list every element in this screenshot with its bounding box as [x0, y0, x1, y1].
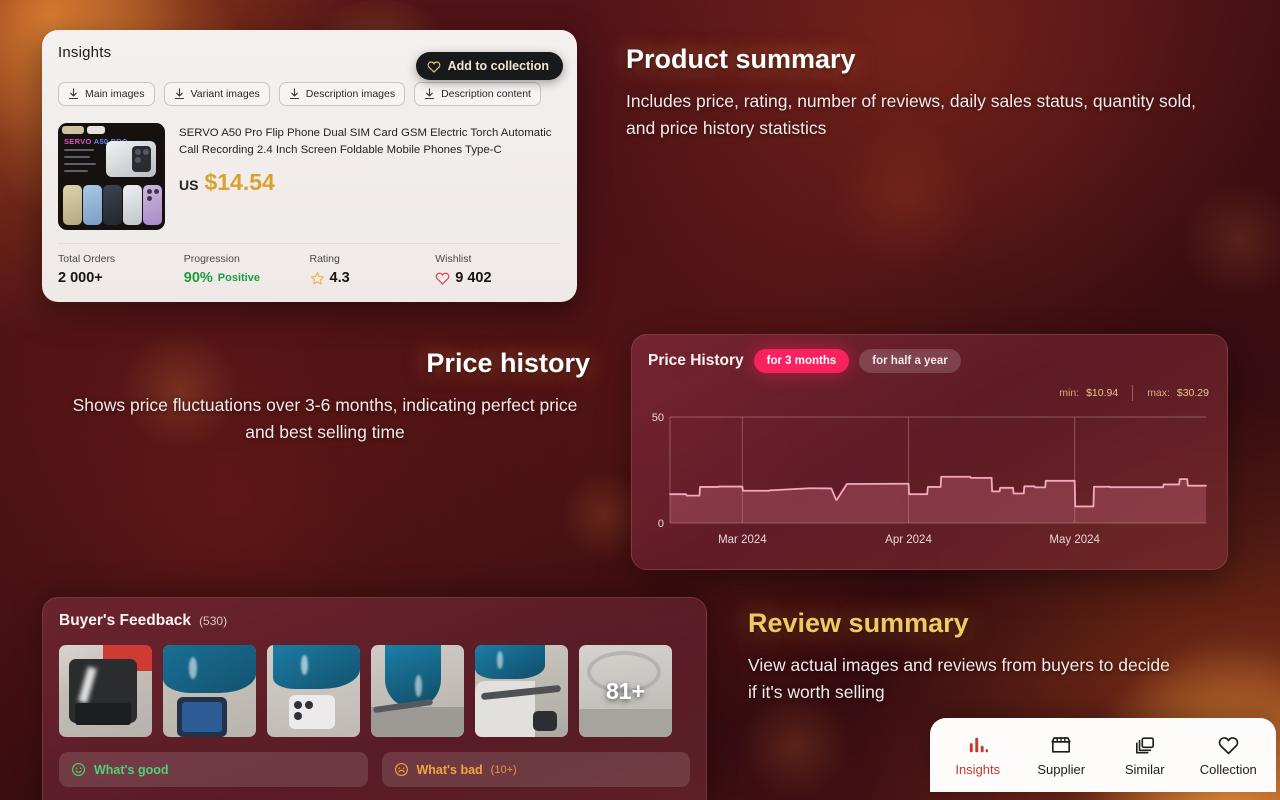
stat-total-orders-value: 2 000+ [58, 270, 103, 286]
smiley-sad-icon [394, 762, 409, 777]
stat-rating-label: Rating [310, 253, 436, 265]
review-summary-heading: Review summary [748, 608, 1178, 639]
download-icon [424, 88, 435, 100]
download-variant-images-label: Variant images [191, 88, 260, 100]
nav-item-similar-label: Similar [1125, 762, 1165, 777]
feedback-photo-3[interactable] [267, 645, 360, 737]
nav-item-similar[interactable]: Similar [1103, 735, 1187, 777]
heart-icon [427, 60, 441, 73]
price-min-value: $10.94 [1086, 387, 1118, 399]
tag-whats-bad-label: What's bad [417, 763, 483, 777]
nav-item-insights[interactable]: Insights [936, 735, 1020, 777]
svg-text:Apr 2024: Apr 2024 [885, 534, 932, 546]
download-icon [289, 88, 300, 100]
price-history-card: Price History for 3 months for half a ye… [631, 334, 1228, 570]
minmax-divider [1132, 385, 1133, 401]
stat-progression-label: Progression [184, 253, 310, 265]
download-description-images-label: Description images [306, 88, 395, 100]
product-currency: US [179, 177, 198, 193]
smiley-happy-icon [71, 762, 86, 777]
product-summary-heading: Product summary [626, 44, 1226, 75]
tag-whats-good[interactable]: What's good [59, 752, 368, 787]
feedback-photo-2[interactable] [163, 645, 256, 737]
review-summary-block: Review summary View actual images and re… [748, 608, 1178, 706]
svg-text:Mar 2024: Mar 2024 [718, 534, 767, 546]
tag-whats-bad[interactable]: What's bad (10+) [382, 752, 691, 787]
download-variant-images-button[interactable]: Variant images [164, 82, 270, 106]
stat-rating: Rating 4.3 [310, 244, 436, 286]
tab-for-half-a-year[interactable]: for half a year [859, 349, 960, 373]
store-icon [1050, 735, 1072, 755]
price-history-header: Price History for 3 months for half a ye… [648, 349, 1211, 373]
product-summary-body: Includes price, rating, number of review… [626, 88, 1226, 142]
download-icon [68, 88, 79, 100]
stat-rating-value: 4.3 [330, 270, 350, 286]
feedback-more-overlay: 81+ [579, 645, 672, 737]
product-price-value: $14.54 [204, 169, 274, 196]
add-to-collection-label: Add to collection [448, 59, 549, 73]
product-title: SERVO A50 Pro Flip Phone Dual SIM Card G… [179, 125, 561, 159]
price-min-label: min: [1059, 387, 1079, 399]
product-stats-row: Total Orders 2 000+ Progression 90% Posi… [58, 243, 561, 286]
nav-item-collection-label: Collection [1200, 762, 1257, 777]
heart-icon [435, 271, 450, 285]
nav-item-supplier-label: Supplier [1037, 762, 1085, 777]
feedback-photo-4[interactable] [371, 645, 464, 737]
bokeh-orb [1180, 180, 1280, 300]
stat-progression-value: 90% [184, 270, 213, 286]
bar-chart-icon [967, 735, 989, 755]
product-price: US $14.54 [179, 169, 561, 196]
product-row: SERVO A50 PRO SERVO A50 Pro Flip Phone D… [58, 123, 561, 230]
insights-card: Insights Add to collection Main images V… [42, 30, 577, 302]
price-max: max: $30.29 [1147, 387, 1209, 399]
stat-progression: Progression 90% Positive [184, 244, 310, 286]
buyers-feedback-count: (530) [199, 614, 227, 628]
tab-for-3-months[interactable]: for 3 months [754, 349, 850, 373]
star-icon [310, 271, 325, 286]
stat-wishlist-label: Wishlist [435, 253, 561, 265]
download-description-images-button[interactable]: Description images [279, 82, 405, 106]
feedback-photo-5[interactable] [475, 645, 568, 737]
price-max-value: $30.29 [1177, 387, 1209, 399]
price-history-card-title: Price History [648, 352, 744, 370]
price-max-label: max: [1147, 387, 1170, 399]
price-min: min: $10.94 [1059, 387, 1118, 399]
stat-total-orders-label: Total Orders [58, 253, 184, 265]
svg-text:May 2024: May 2024 [1049, 534, 1100, 546]
download-description-content-button[interactable]: Description content [414, 82, 541, 106]
svg-text:50: 50 [652, 412, 664, 424]
buyers-feedback-title: Buyer's Feedback [59, 612, 191, 630]
bottom-navigation-bar: Insights Supplier Similar Collection [930, 718, 1276, 792]
product-thumbnail[interactable]: SERVO A50 PRO [58, 123, 165, 230]
stat-wishlist-value: 9 402 [455, 270, 491, 286]
tag-whats-bad-count: (10+) [491, 764, 517, 776]
feedback-photo-1[interactable] [59, 645, 152, 737]
download-description-content-label: Description content [441, 88, 531, 100]
buyers-feedback-card: Buyer's Feedback (530) [42, 597, 707, 800]
stat-total-orders: Total Orders 2 000+ [58, 244, 184, 286]
stat-wishlist: Wishlist 9 402 [435, 244, 561, 286]
download-icon [174, 88, 185, 100]
price-history-heading: Price history [60, 348, 590, 379]
buyers-feedback-tags: What's good What's bad (10+) [59, 752, 690, 787]
tag-whats-good-label: What's good [94, 763, 169, 777]
svg-text:0: 0 [658, 518, 664, 530]
product-summary-block: Product summary Includes price, rating, … [626, 44, 1226, 142]
download-main-images-button[interactable]: Main images [58, 82, 155, 106]
product-info: SERVO A50 Pro Flip Phone Dual SIM Card G… [179, 123, 561, 230]
price-min-max: min: $10.94 max: $30.29 [1059, 385, 1209, 401]
review-summary-body: View actual images and reviews from buye… [748, 652, 1178, 706]
nav-item-collection[interactable]: Collection [1187, 735, 1271, 777]
add-to-collection-button[interactable]: Add to collection [416, 52, 563, 80]
buyers-feedback-thumbnails: 81+ [59, 645, 690, 737]
nav-item-insights-label: Insights [955, 762, 1000, 777]
price-history-chart[interactable]: 050Mar 2024Apr 2024May 2024 [648, 405, 1213, 553]
price-history-text-block: Price history Shows price fluctuations o… [60, 348, 590, 446]
feedback-photo-more[interactable]: 81+ [579, 645, 672, 737]
download-buttons-row: Main images Variant images Description i… [58, 82, 561, 106]
bokeh-orb [830, 120, 980, 270]
nav-item-supplier[interactable]: Supplier [1020, 735, 1104, 777]
download-main-images-label: Main images [85, 88, 145, 100]
price-history-body: Shows price fluctuations over 3-6 months… [60, 392, 590, 446]
buyers-feedback-header: Buyer's Feedback (530) [59, 612, 690, 630]
stat-progression-suffix: Positive [218, 272, 260, 284]
price-chart-svg: 050Mar 2024Apr 2024May 2024 [648, 405, 1213, 553]
heart-icon [1217, 735, 1240, 755]
bokeh-orb [740, 690, 850, 800]
layers-icon [1134, 735, 1156, 755]
